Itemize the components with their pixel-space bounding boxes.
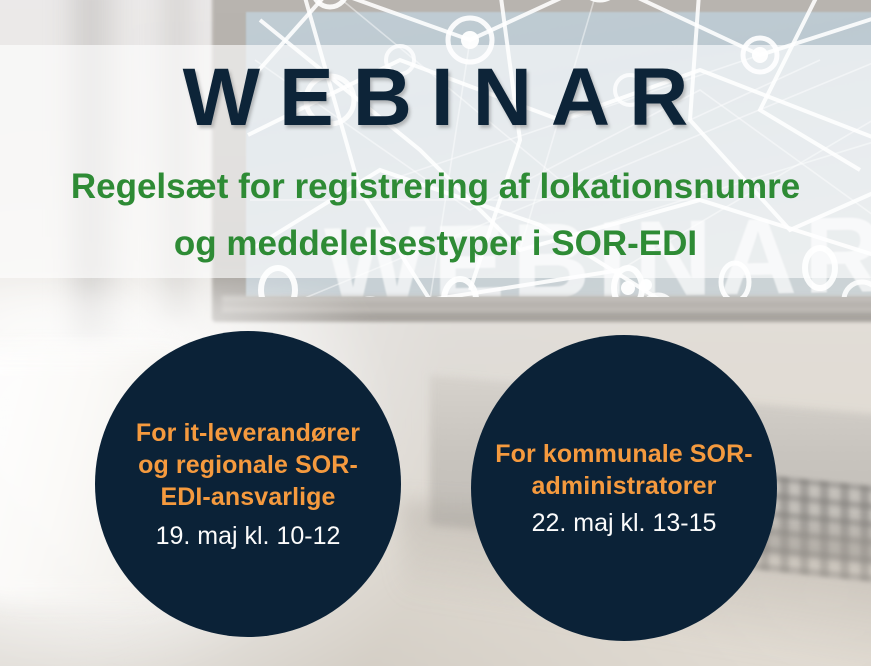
- session-audience-line-2: og regionale SOR-: [136, 449, 360, 481]
- session-audience-line-2: administratorer: [495, 470, 752, 502]
- session-datetime: 19. maj kl. 10-12: [156, 520, 341, 552]
- session-circle-it-leverandoerer[interactable]: For it-leverandører og regionale SOR- ED…: [95, 331, 401, 637]
- session-audience-line-1: For it-leverandører: [136, 417, 360, 449]
- session-audience: For it-leverandører og regionale SOR- ED…: [136, 417, 360, 513]
- session-audience-line-1: For kommunale SOR-: [495, 438, 752, 470]
- session-audience-line-3: EDI-ansvarlige: [136, 481, 360, 513]
- subtitle: Regelsæt for registrering af lokationsnu…: [16, 158, 855, 272]
- session-datetime: 22. maj kl. 13-15: [532, 507, 717, 539]
- webinar-poster: WEBINAR: [0, 0, 871, 666]
- session-audience: For kommunale SOR- administratorer: [495, 438, 752, 502]
- subtitle-line-1: Regelsæt for registrering af lokationsnu…: [16, 158, 855, 215]
- session-circle-kommunale-sor[interactable]: For kommunale SOR- administratorer 22. m…: [471, 335, 777, 641]
- page-title: WEBINAR: [0, 50, 871, 146]
- subtitle-line-2: og meddelelsestyper i SOR-EDI: [16, 215, 855, 272]
